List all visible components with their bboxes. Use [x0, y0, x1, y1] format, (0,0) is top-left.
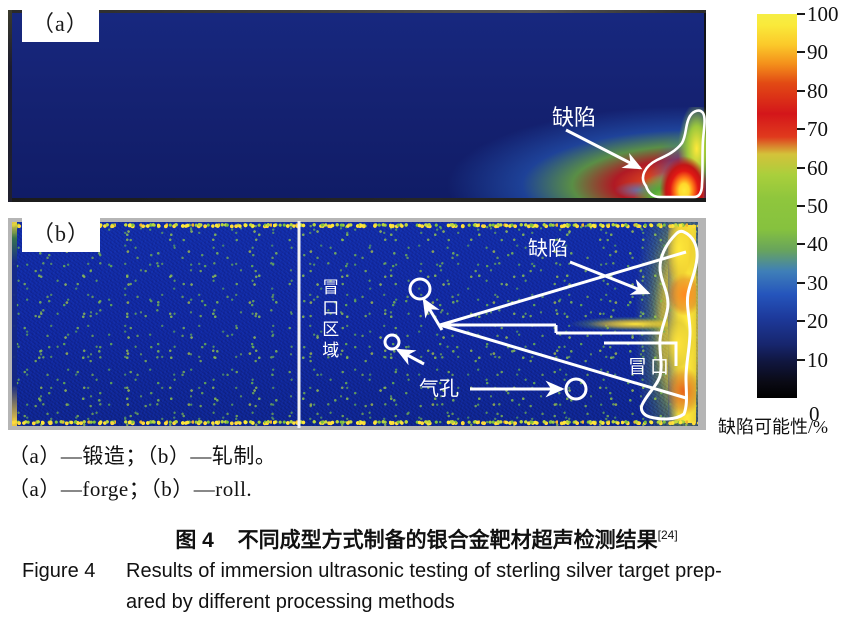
panel-a-bottom-edge: [8, 198, 706, 202]
colorbar-tick-label-40: 40: [807, 232, 828, 257]
panel-b-riser-zone-label: 冒口区域: [318, 278, 339, 362]
colorbar-tick-60: [797, 167, 805, 169]
panel-b-porosity-label: 气孔: [419, 372, 459, 401]
colorbar: 1009080706050403020100: [757, 14, 853, 404]
panel-a-letter: （a）: [22, 4, 99, 42]
panel-b-bottom-edge-speckle: [12, 419, 698, 426]
panel-b-letter: （b）: [22, 214, 100, 252]
colorbar-tick-30: [797, 282, 805, 284]
colorbar-tick-label-100: 100: [807, 2, 839, 27]
colorbar-tick-label-60: 60: [807, 156, 828, 181]
panel-b-riser-streak: [538, 316, 668, 332]
figure-title-cn-ref: [24]: [658, 528, 678, 542]
colorbar-tick-50: [797, 205, 805, 207]
panel-b-riser-label: 冒口: [628, 352, 672, 379]
colorbar-tick-label-10: 10: [807, 348, 828, 373]
panel-a-defect-blob: [628, 107, 706, 202]
colorbar-tick-label-80: 80: [807, 79, 828, 104]
panel-b-cscan-field: [12, 222, 698, 426]
panel-b-top-edge-speckle: [12, 222, 698, 229]
colorbar-tick-20: [797, 320, 805, 322]
colorbar-tick-label-70: 70: [807, 117, 828, 142]
caption-line-en: （a）—forge；（b）—roll.: [8, 473, 848, 506]
panel-a-forge-cscan: [8, 10, 706, 202]
panel-b-defect-label: 缺陷: [528, 232, 568, 261]
colorbar-tick-70: [797, 128, 805, 130]
colorbar-tick-label-90: 90: [807, 40, 828, 65]
panel-a-left-edge: [8, 10, 12, 202]
panel-a-cscan-field: [10, 12, 704, 200]
figure-title-en: Figure 4Results of immersion ultrasonic …: [22, 556, 842, 618]
figure-caption-block: （a）—锻造；（b）—轧制。 （a）—forge；（b）—roll.: [8, 440, 848, 505]
figure-title-en-label: Figure 4: [22, 556, 126, 587]
panel-a-defect-label: 缺陷: [552, 100, 596, 132]
figure-container: （a） （b） 缺陷 缺陷 气孔 冒口 冒口区域 100908070605040…: [0, 0, 853, 613]
colorbar-caption: 缺陷可能性/%: [718, 413, 828, 439]
figure-title-en-line2: ared by different processing methods: [126, 587, 842, 618]
panel-b-left-edge: [12, 222, 17, 426]
colorbar-tick-label-50: 50: [807, 194, 828, 219]
caption-line-cn: （a）—锻造；（b）—轧制。: [8, 440, 848, 473]
figure-title-cn: 图 4 不同成型方式制备的银合金靶材超声检测结果[24]: [0, 524, 853, 554]
figure-title-cn-text: 不同成型方式制备的银合金靶材超声检测结果: [238, 529, 658, 552]
panel-a-top-edge: [8, 10, 706, 13]
figure-title-en-line1: Results of immersion ultrasonic testing …: [126, 560, 722, 582]
colorbar-tick-label-30: 30: [807, 271, 828, 296]
colorbar-tick-100: [797, 13, 805, 15]
colorbar-gradient: [757, 14, 797, 398]
colorbar-tick-90: [797, 51, 805, 53]
colorbar-tick-40: [797, 243, 805, 245]
colorbar-tick-80: [797, 90, 805, 92]
panel-b-roll-cscan: [8, 218, 706, 430]
panel-b-riser-band: [668, 225, 696, 423]
figure-title-cn-label: 图 4: [175, 529, 214, 552]
colorbar-tick-10: [797, 359, 805, 361]
colorbar-tick-label-20: 20: [807, 309, 828, 334]
